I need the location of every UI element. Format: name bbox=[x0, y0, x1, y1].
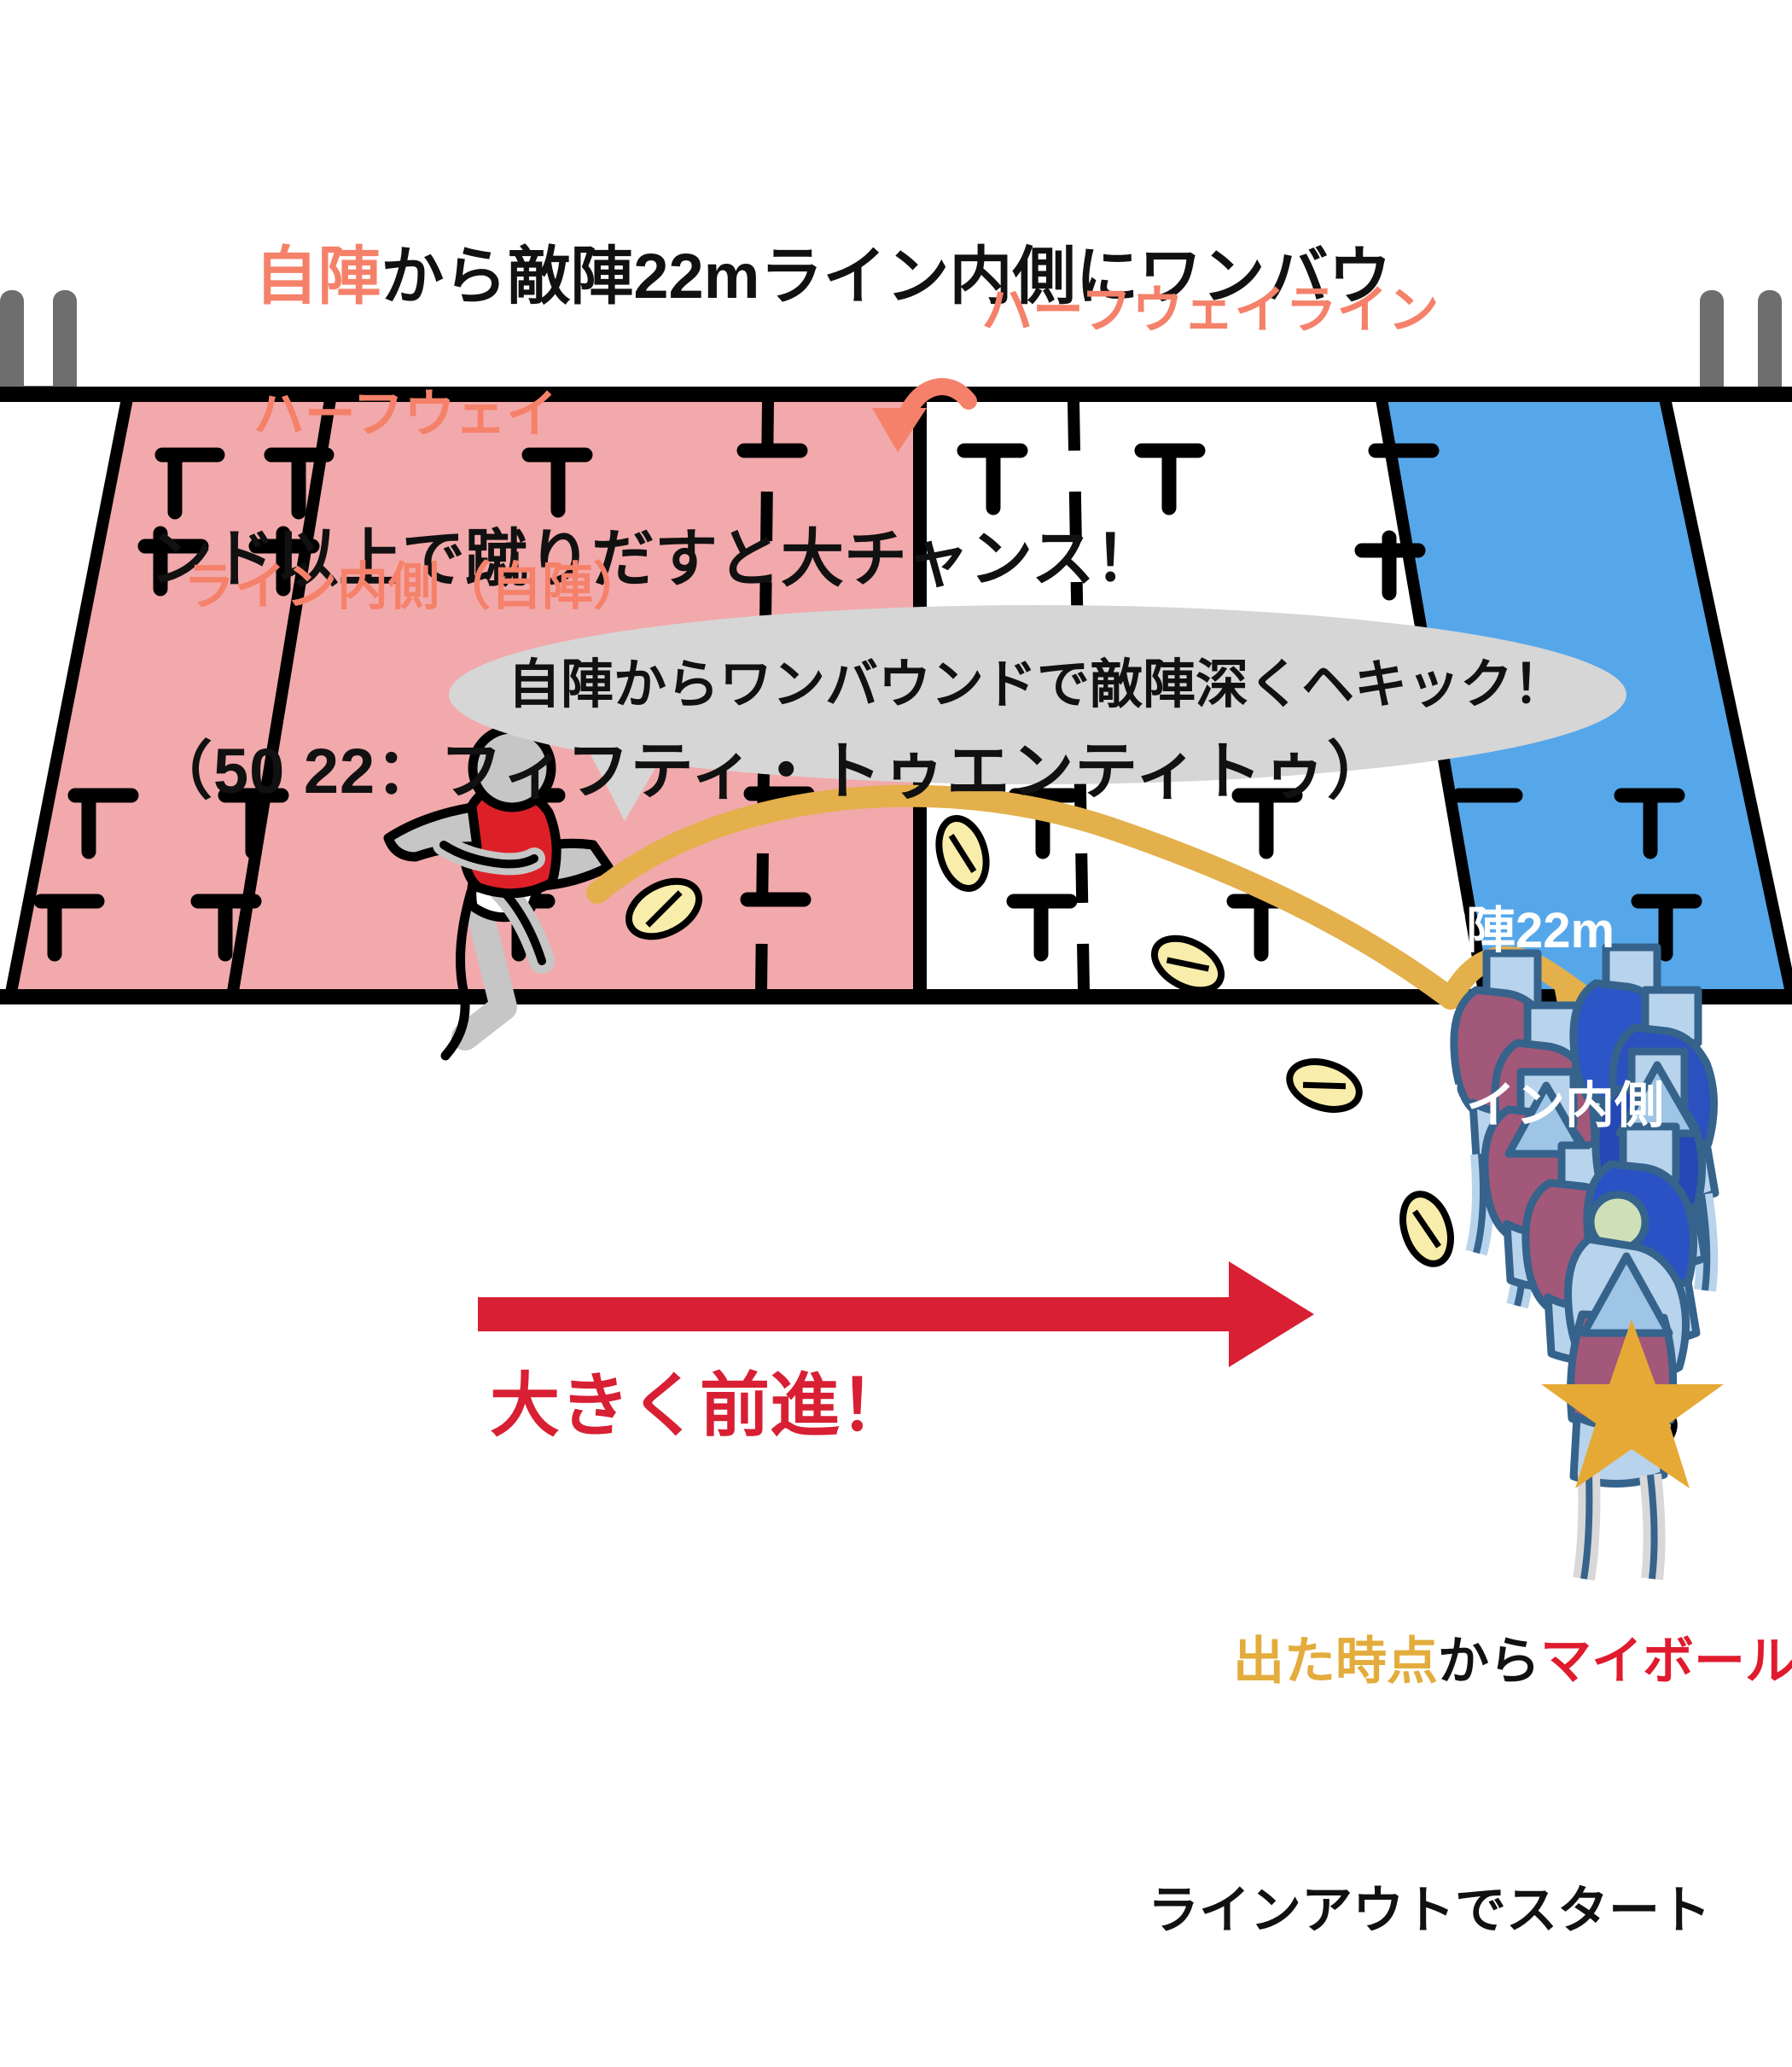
label-opponent-22m-line1: 敵陣22m bbox=[1417, 902, 1724, 960]
title-line-3: （50 22：フィフティ・トゥエンティトゥ） bbox=[149, 737, 1259, 807]
advance-arrow bbox=[478, 1261, 1314, 1367]
label-lineout-restart-line2: ラインアウトでスタート bbox=[1148, 1879, 1792, 1942]
label-halfway-inside-line1: ハーフウェイ bbox=[183, 386, 627, 443]
speech-bubble-text: 自陣からワンバウンドで敵陣深くヘキック！ bbox=[491, 655, 1583, 714]
label-exit-point: 出た時点 bbox=[1233, 1633, 1438, 1690]
label-halfway-line: ハーフウェイライン bbox=[981, 282, 1382, 339]
label-lineout-restart-line1: 出た時点からマイボール bbox=[1148, 1567, 1792, 1755]
label-halfway-inside-line2: ライン内側（自陣） bbox=[183, 558, 627, 615]
label-my-ball: マイボール bbox=[1540, 1633, 1792, 1690]
label-lineout-restart: 出た時点からマイボール ラインアウトでスタート bbox=[1148, 1442, 1792, 2067]
label-opponent-22m-line2: ライン内側 bbox=[1417, 1077, 1724, 1135]
rugby-diagram: 自陣から敵陣22mライン内側にワンバウ ンド以上で蹴りだすと大チャンス！ （50… bbox=[0, 0, 1792, 1792]
label-from: から bbox=[1438, 1633, 1540, 1690]
label-opponent-22m: 敵陣22m ライン内側 bbox=[1417, 785, 1724, 1253]
label-advance: 大きく前進！ bbox=[461, 1367, 939, 1446]
